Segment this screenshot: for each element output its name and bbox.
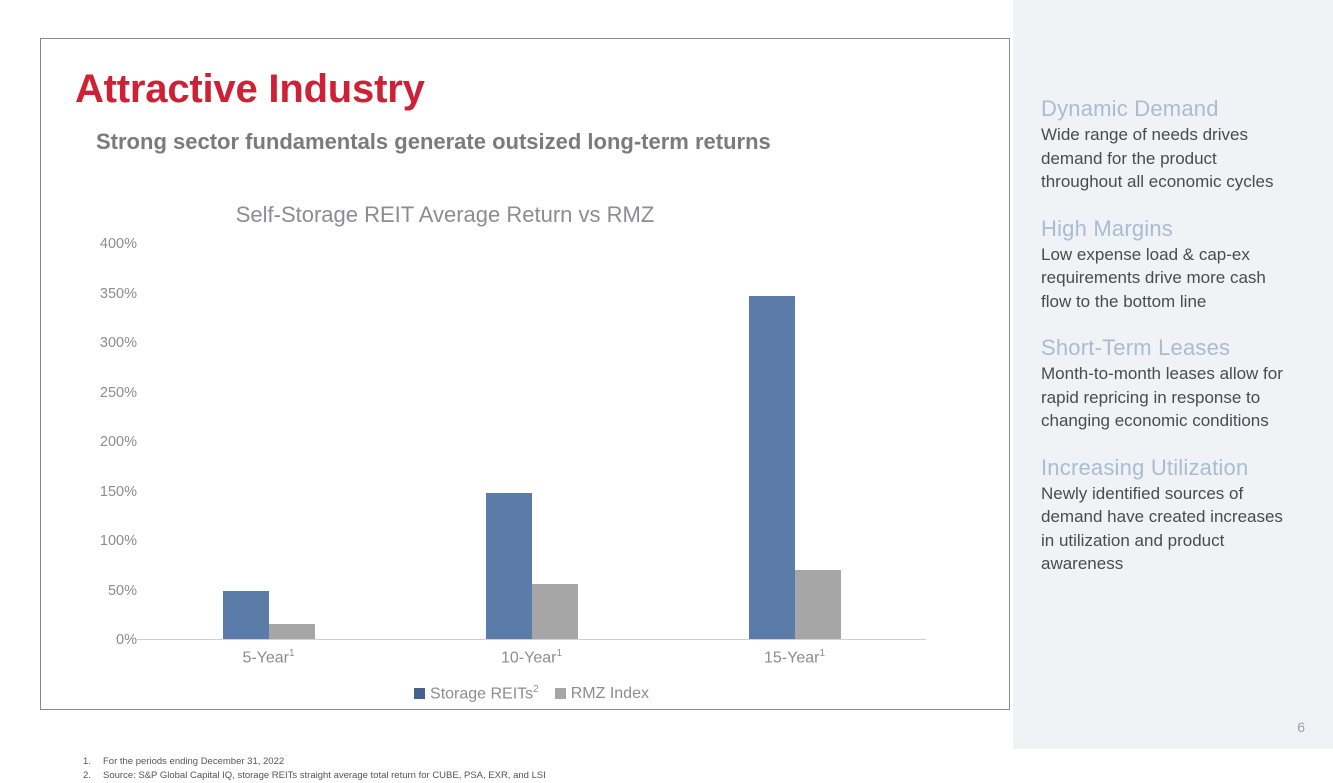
side-panel-block: High MarginsLow expense load & cap-ex re… — [1041, 216, 1305, 314]
x-axis-label-footnote-mark: 1 — [819, 648, 825, 659]
x-axis-label-text: 5-Year — [242, 649, 289, 666]
slide-frame: Attractive Industry Strong sector fundam… — [40, 38, 1010, 710]
chart-legend: Storage REITs2RMZ Index — [137, 684, 926, 703]
y-axis-tick-label: 50% — [79, 583, 137, 599]
side-panel-heading: High Margins — [1041, 216, 1305, 242]
y-axis-tick-label: 200% — [79, 434, 137, 450]
bar-15-year-rmz-index — [795, 570, 841, 639]
footnote: 2.Source: S&P Global Capital IQ, storage… — [83, 769, 783, 783]
legend-swatch-icon — [555, 688, 566, 699]
y-axis-tick-label: 400% — [79, 236, 137, 252]
legend-label: RMZ Index — [571, 685, 649, 703]
bar-group — [400, 243, 663, 639]
legend-swatch-icon — [414, 688, 425, 699]
bar-15-year-storage-reits — [749, 296, 795, 639]
footnote-text: Source: S&P Global Capital IQ, storage R… — [103, 769, 546, 783]
side-panel-block: Increasing UtilizationNewly identified s… — [1041, 455, 1305, 576]
bar-chart: 400%350%300%250%200%150%100%50%0% Storag… — [41, 244, 1011, 704]
side-panel-body: Newly identified sources of demand have … — [1041, 482, 1293, 576]
x-axis-line — [137, 639, 926, 640]
y-axis-tick-label: 250% — [79, 385, 137, 401]
side-panel-body: Low expense load & cap-ex requirements d… — [1041, 243, 1293, 314]
y-axis-tick-label: 100% — [79, 533, 137, 549]
legend-item[interactable]: RMZ Index — [555, 685, 649, 703]
info-side-panel: Dynamic DemandWide range of needs drives… — [1013, 0, 1333, 749]
x-axis-label-footnote-mark: 1 — [556, 648, 562, 659]
legend-footnote-mark: 2 — [533, 684, 539, 695]
x-axis-tick-label: 15-Year1 — [715, 648, 875, 667]
footnote: 1.For the periods ending December 31, 20… — [83, 755, 783, 769]
legend-label-text: RMZ Index — [571, 685, 649, 702]
bar-5-year-rmz-index — [269, 624, 315, 639]
x-axis-label-footnote-mark: 1 — [289, 648, 295, 659]
legend-label: Storage REITs2 — [430, 684, 539, 703]
chart-title: Self-Storage REIT Average Return vs RMZ — [41, 202, 1009, 228]
side-panel-block: Short-Term LeasesMonth-to-month leases a… — [1041, 335, 1305, 433]
legend-label-text: Storage REITs — [430, 685, 533, 702]
bar-10-year-storage-reits — [486, 493, 532, 639]
page-subtitle: Strong sector fundamentals generate outs… — [96, 129, 771, 155]
bar-5-year-storage-reits — [223, 591, 269, 640]
side-panel-body: Wide range of needs drives demand for th… — [1041, 123, 1293, 194]
y-axis-tick-label: 150% — [79, 484, 137, 500]
y-axis-tick-label: 0% — [79, 632, 137, 648]
side-panel-block: Dynamic DemandWide range of needs drives… — [1041, 96, 1305, 194]
y-axis-tick-label: 350% — [79, 286, 137, 302]
y-axis-tick-label: 300% — [79, 335, 137, 351]
x-axis-tick-label: 5-Year1 — [189, 648, 349, 667]
footnote-list: 1.For the periods ending December 31, 20… — [83, 755, 783, 783]
chart-plot-area — [137, 244, 926, 640]
bar-10-year-rmz-index — [532, 584, 578, 639]
side-panel-body: Month-to-month leases allow for rapid re… — [1041, 362, 1293, 433]
y-axis: 400%350%300%250%200%150%100%50%0% — [79, 244, 137, 640]
x-axis-label-text: 15-Year — [764, 649, 819, 666]
side-panel-block-list: Dynamic DemandWide range of needs drives… — [1041, 96, 1305, 576]
side-panel-heading: Dynamic Demand — [1041, 96, 1305, 122]
x-axis-label-text: 10-Year — [501, 649, 556, 666]
legend-item[interactable]: Storage REITs2 — [414, 684, 539, 703]
footnote-number: 2. — [83, 769, 103, 783]
bar-group — [663, 243, 926, 639]
side-panel-heading: Increasing Utilization — [1041, 455, 1305, 481]
footnote-number: 1. — [83, 755, 103, 769]
footnote-text: For the periods ending December 31, 2022 — [103, 755, 284, 769]
page-title: Attractive Industry — [75, 67, 425, 112]
page-number: 6 — [1297, 719, 1305, 735]
x-axis-tick-label: 10-Year1 — [452, 648, 612, 667]
bar-group — [137, 243, 400, 639]
side-panel-heading: Short-Term Leases — [1041, 335, 1305, 361]
